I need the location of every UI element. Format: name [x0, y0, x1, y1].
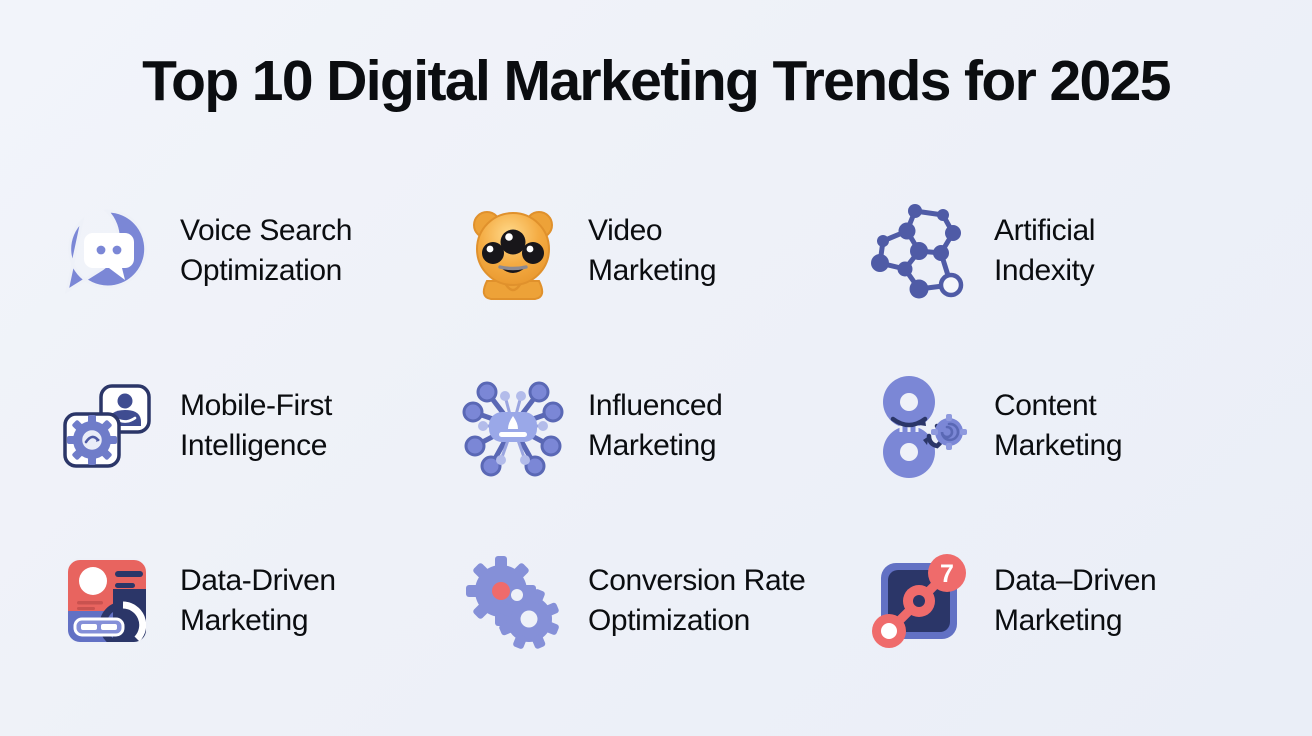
- node-chart-badge-icon: 7: [864, 546, 974, 656]
- trend-label-line2: Marketing: [994, 601, 1156, 641]
- trend-item-voice-search-optimization[interactable]: Voice Search Optimization: [52, 164, 452, 339]
- trend-label-line2: Indexity: [994, 251, 1095, 291]
- infographic-canvas: Top 10 Digital Marketing Trends for 2025…: [0, 0, 1312, 736]
- trend-label-line1: Voice Search: [180, 211, 352, 251]
- trend-grid: Voice Search Optimization: [0, 164, 1312, 689]
- trend-label-line1: Data–Driven: [994, 561, 1156, 601]
- trend-label: Content Marketing: [994, 386, 1122, 466]
- trend-label: Artificial Indexity: [994, 211, 1095, 291]
- trend-label-line2: Optimization: [588, 601, 805, 641]
- trend-label-line2: Marketing: [180, 601, 336, 641]
- trend-label: Conversion Rate Optimization: [588, 561, 805, 641]
- trend-item-artificial-indexity[interactable]: Artificial Indexity: [864, 164, 1264, 339]
- trend-label-line1: Artificial: [994, 211, 1095, 251]
- neural-hub-person-icon: [458, 371, 568, 481]
- trend-label: Data–Driven Marketing: [994, 561, 1156, 641]
- trend-label-line1: Mobile-First: [180, 386, 332, 426]
- three-eyed-bear-mascot-icon: [458, 196, 568, 306]
- dashboard-profile-card-icon: [52, 546, 162, 656]
- page-title: Top 10 Digital Marketing Trends for 2025: [0, 52, 1312, 112]
- trend-label-line1: Video: [588, 211, 716, 251]
- trend-label-line2: Optimization: [180, 251, 352, 291]
- title-container: Top 10 Digital Marketing Trends for 2025: [0, 0, 1312, 112]
- cards-user-gear-icon: [52, 371, 162, 481]
- trend-label: Video Marketing: [588, 211, 716, 291]
- trend-item-video-marketing[interactable]: Video Marketing: [458, 164, 858, 339]
- network-graph-nodes-icon: [864, 196, 974, 306]
- trend-item-data-driven-marketing-right[interactable]: 7 Data–Driven Marketing: [864, 514, 1264, 689]
- trend-label: Voice Search Optimization: [180, 211, 352, 291]
- trend-item-conversion-rate-optimization[interactable]: Conversion Rate Optimization: [458, 514, 858, 689]
- trend-label-line2: Marketing: [588, 251, 716, 291]
- trend-item-content-marketing[interactable]: Content Marketing: [864, 339, 1264, 514]
- trend-label-line2: Intelligence: [180, 426, 332, 466]
- trend-label: Data-Driven Marketing: [180, 561, 336, 641]
- trend-item-influenced-marketing[interactable]: Influenced Marketing: [458, 339, 858, 514]
- trend-label-line1: Data-Driven: [180, 561, 336, 601]
- trend-item-data-driven-marketing-left[interactable]: Data-Driven Marketing: [52, 514, 452, 689]
- trend-label: Mobile-First Intelligence: [180, 386, 332, 466]
- node-badge-value: 7: [940, 560, 954, 588]
- interlocking-gears-icon: [458, 546, 568, 656]
- trend-label-line2: Marketing: [994, 426, 1122, 466]
- trend-label-line1: Influenced: [588, 386, 722, 426]
- dual-rings-spiral-icon: [864, 371, 974, 481]
- trend-label-line1: Conversion Rate: [588, 561, 805, 601]
- trend-label: Influenced Marketing: [588, 386, 722, 466]
- trend-item-mobile-first-intelligence[interactable]: Mobile-First Intelligence: [52, 339, 452, 514]
- speech-bubble-chat-icon: [52, 196, 162, 306]
- trend-label-line2: Marketing: [588, 426, 722, 466]
- trend-label-line1: Content: [994, 386, 1122, 426]
